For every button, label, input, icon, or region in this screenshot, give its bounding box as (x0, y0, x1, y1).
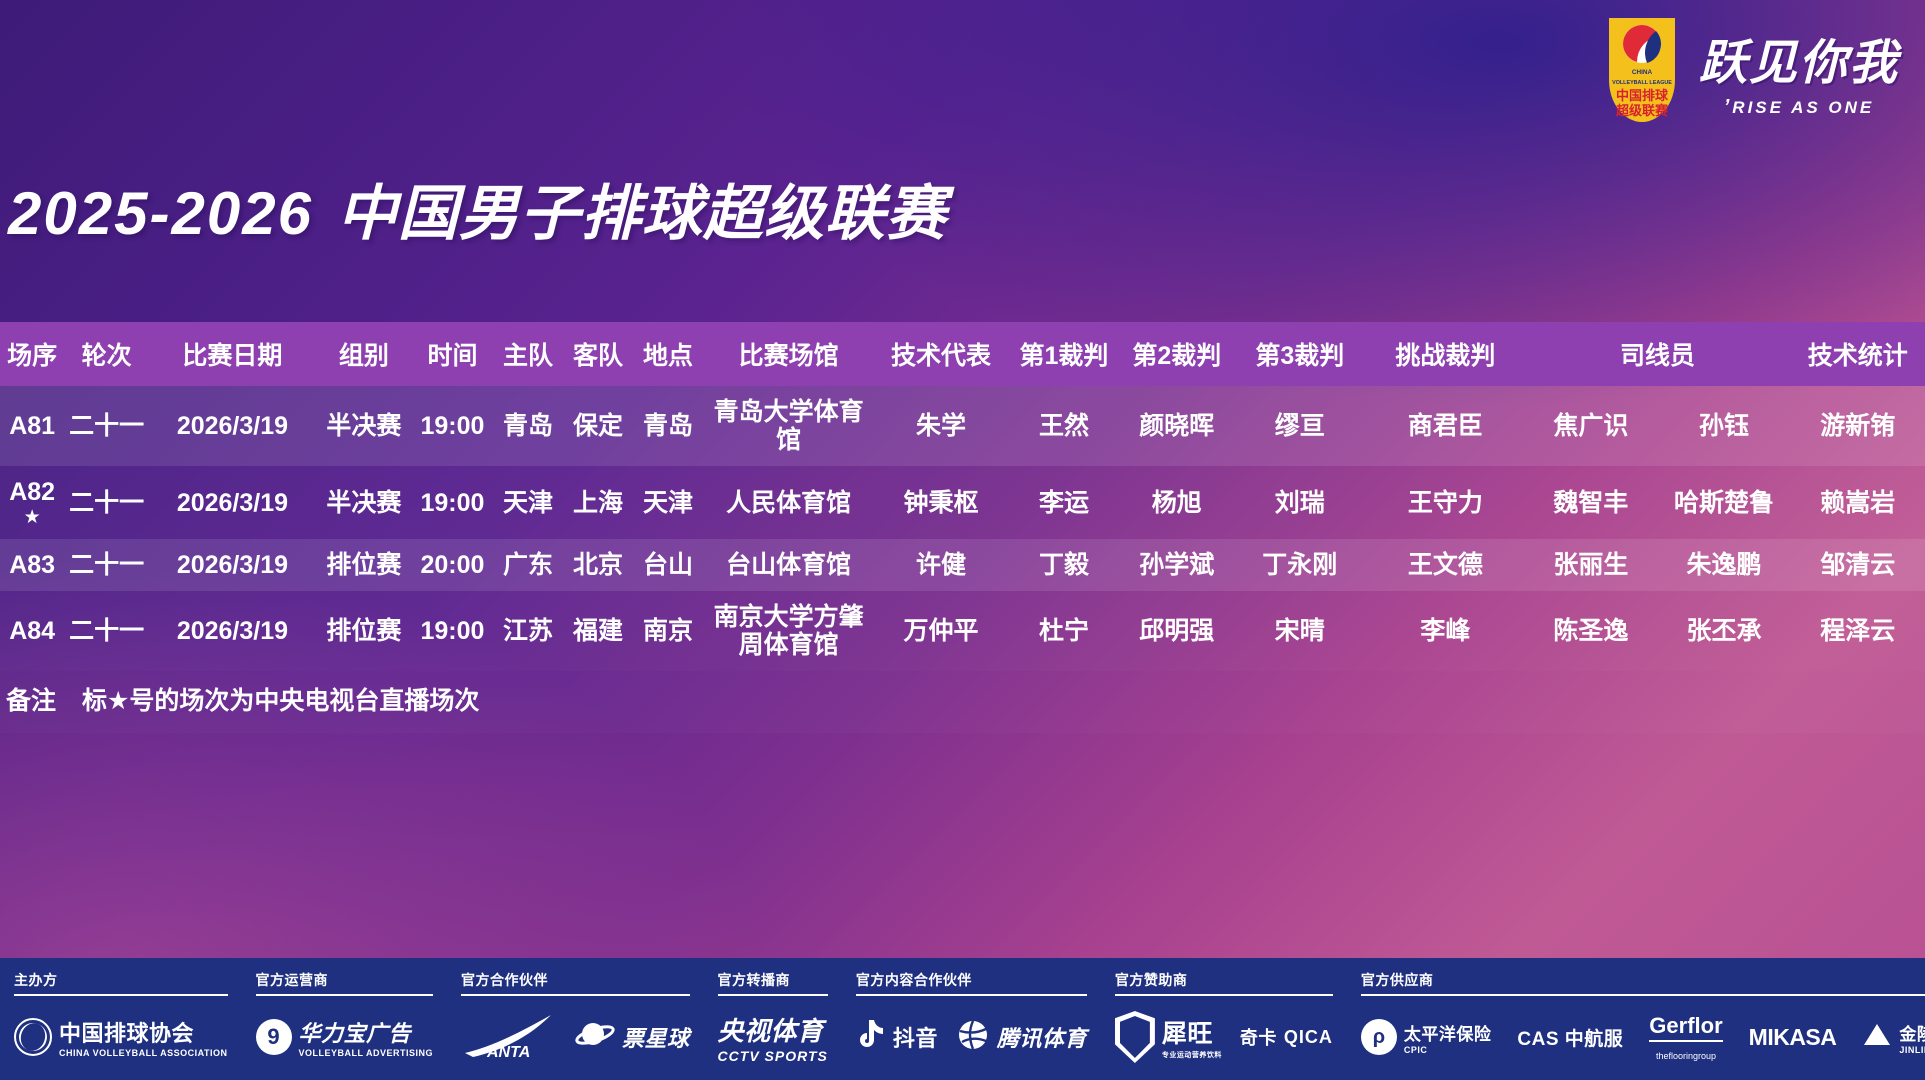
sponsor-group-title: 官方转播商 (718, 970, 828, 990)
cell-statistician: 游新铕 (1791, 386, 1925, 466)
svg-text:CHINA: CHINA (1632, 69, 1653, 76)
huiibao-icon: 9 (256, 1019, 292, 1055)
cell-location: 南京 (633, 591, 703, 671)
cell-line-judge-1: 焦广识 (1524, 386, 1657, 466)
cell-round: 二十一 (64, 591, 149, 671)
schedule-table-wrap: 场序 轮次 比赛日期 组别 时间 主队 客队 地点 比赛场馆 技术代表 第1裁判… (0, 322, 1925, 733)
header-challenge-referee: 挑战裁判 (1366, 322, 1524, 386)
cell-referee-2: 邱明强 (1120, 591, 1233, 671)
cell-challenge-referee: 王文德 (1366, 539, 1524, 591)
logo-sublabel: CCTV SPORTS (718, 1048, 828, 1064)
sponsor-group-content-partners: 官方内容合作伙伴 抖音 (856, 970, 1087, 1068)
sponsor-group-suppliers: 官方供应商 ρ 太平洋保险 CPIC CAS 中航服 Gerflor thefl… (1361, 970, 1925, 1068)
svg-text:超级联赛: 超级联赛 (1616, 103, 1669, 118)
cell-date: 2026/3/19 (149, 386, 316, 466)
mikasa-icon: MIKASA (1749, 1024, 1837, 1051)
divider (1115, 994, 1333, 996)
cell-location: 天津 (633, 466, 703, 539)
cell-away-team: 上海 (563, 466, 633, 539)
douyin-note-icon (856, 1018, 886, 1057)
cell-home-team: 天津 (493, 466, 563, 539)
logo-cctv-sports[interactable]: 央视体育 CCTV SPORTS (718, 1011, 828, 1064)
logo-label: 太平洋保险 (1404, 1020, 1492, 1045)
planet-icon (575, 1018, 615, 1057)
brand-slogan: 跃见你我 ’RISE AS ONE (1699, 40, 1899, 119)
cell-time: 19:00 (412, 591, 493, 671)
sponsor-group-title: 官方运营商 (256, 970, 434, 990)
header-round: 轮次 (64, 322, 149, 386)
logo-label: 金陵体育 (1899, 1020, 1925, 1045)
cell-line-judge-2: 哈斯楚鲁 (1657, 466, 1790, 539)
sponsor-group-title: 官方合作伙伴 (461, 970, 690, 990)
header-location: 地点 (633, 322, 703, 386)
sponsor-group-title: 官方赞助商 (1115, 970, 1333, 990)
logo-mikasa[interactable]: MIKASA (1749, 1024, 1837, 1051)
cell-challenge-referee: 王守力 (1366, 466, 1524, 539)
cell-line-judge-2: 张丕承 (1657, 591, 1790, 671)
logo-xiwang[interactable]: 犀旺 专业运动营养饮料 (1115, 1011, 1222, 1063)
cell-time: 19:00 (412, 386, 493, 466)
cell-time: 19:00 (412, 466, 493, 539)
sponsor-group-title: 主办方 (14, 970, 228, 990)
divider (718, 994, 828, 996)
cell-group: 排位赛 (316, 591, 412, 671)
cell-referee-2: 杨旭 (1120, 466, 1233, 539)
svg-text:VOLLEYBALL LEAGUE: VOLLEYBALL LEAGUE (1612, 80, 1672, 86)
schedule-table: 场序 轮次 比赛日期 组别 时间 主队 客队 地点 比赛场馆 技术代表 第1裁判… (0, 322, 1925, 733)
cell-tech-rep: 许健 (874, 539, 1007, 591)
tencent-ball-icon (956, 1018, 990, 1057)
logo-gerflor[interactable]: Gerflor theflooringroup (1649, 1013, 1722, 1061)
logo-sublabel: 专业运动营养饮料 (1162, 1050, 1222, 1060)
poster-canvas: CHINA VOLLEYBALL LEAGUE 中国排球 超级联赛 跃见你我 ’… (0, 0, 1925, 1080)
cell-group: 半决赛 (316, 386, 412, 466)
cell-line-judge-1: 张丽生 (1524, 539, 1657, 591)
logo-tencent-sports[interactable]: 腾讯体育 (956, 1018, 1087, 1057)
divider (461, 994, 690, 996)
gerflor-icon: Gerflor (1649, 1013, 1722, 1042)
header-home-team: 主队 (493, 322, 563, 386)
cell-venue: 青岛大学体育馆 (703, 386, 875, 466)
cell-venue: 南京大学方肇周体育馆 (703, 591, 875, 671)
sponsor-group-title: 官方供应商 (1361, 970, 1925, 990)
logo-cas[interactable]: CAS 中航服 (1517, 1024, 1623, 1051)
note-cell: 备注标★号的场次为中央电视台直播场次 (0, 671, 1925, 733)
cell-time: 20:00 (412, 539, 493, 591)
svg-text:ANTA: ANTA (486, 1044, 530, 1061)
logo-label: 央视体育 (718, 1011, 828, 1048)
cell-round: 二十一 (64, 386, 149, 466)
brand-logo-area: CHINA VOLLEYBALL LEAGUE 中国排球 超级联赛 跃见你我 ’… (1599, 14, 1899, 144)
page-title: 2025-2026中国男子排球超级联赛 (8, 165, 947, 252)
cell-tech-rep: 万仲平 (874, 591, 1007, 671)
cell-round: 二十一 (64, 466, 149, 539)
cell-match-no: A81 (0, 386, 64, 466)
cell-group: 排位赛 (316, 539, 412, 591)
table-row[interactable]: A82 ★ 二十一 2026/3/19 半决赛 19:00 天津 上海 天津 人… (0, 466, 1925, 539)
sponsor-group-organizer: 主办方 中国排球协会 CHINA VOLLEYBALL ASSOCIATION (14, 970, 228, 1068)
rhino-shield-icon (1115, 1011, 1155, 1063)
table-note-row: 备注标★号的场次为中央电视台直播场次 (0, 671, 1925, 733)
sponsor-group-title: 官方内容合作伙伴 (856, 970, 1087, 990)
header-match-no: 场序 (0, 322, 64, 386)
note-label: 备注 (6, 687, 56, 715)
header-line-judges: 司线员 (1524, 322, 1790, 386)
volleyball-icon (14, 1018, 52, 1056)
logo-cva[interactable]: 中国排球协会 CHINA VOLLEYBALL ASSOCIATION (14, 1016, 228, 1058)
cell-referee-3: 宋晴 (1233, 591, 1366, 671)
cell-round: 二十一 (64, 539, 149, 591)
logo-sublabel: theflooringroup (1656, 1051, 1716, 1061)
cell-line-judge-2: 孙钰 (1657, 386, 1790, 466)
anta-swoosh-icon: ANTA (461, 1013, 557, 1061)
cpic-icon: ρ (1361, 1019, 1397, 1055)
sponsor-group-partners: 官方合作伙伴 ANTA (461, 970, 690, 1068)
header-referee-1: 第1裁判 (1008, 322, 1121, 386)
cell-referee-3: 缪亘 (1233, 386, 1366, 466)
cell-date: 2026/3/19 (149, 466, 316, 539)
logo-label: 票星球 (622, 1021, 690, 1053)
divider (14, 994, 228, 996)
divider (256, 994, 434, 996)
sponsor-group-sponsors: 官方赞助商 犀旺 专业运动营养饮料 奇卡 QICA (1115, 970, 1333, 1068)
cell-referee-1: 杜宁 (1008, 591, 1121, 671)
cell-statistician: 程泽云 (1791, 591, 1925, 671)
logo-qica[interactable]: 奇卡 QICA (1240, 1024, 1333, 1050)
logo-label: 腾讯体育 (997, 1021, 1087, 1053)
sponsor-group-broadcaster: 官方转播商 央视体育 CCTV SPORTS (718, 970, 828, 1068)
cell-location: 青岛 (633, 386, 703, 466)
cell-referee-3: 丁永刚 (1233, 539, 1366, 591)
logo-label: 华力宝广告 (299, 1016, 434, 1048)
logo-piaoxingqiu[interactable]: 票星球 (575, 1018, 690, 1057)
qica-icon: QICA (1284, 1027, 1333, 1048)
header-date: 比赛日期 (149, 322, 316, 386)
sponsor-footer: 主办方 中国排球协会 CHINA VOLLEYBALL ASSOCIATION … (0, 958, 1925, 1080)
logo-sublabel: VOLLEYBALL ADVERTISING (299, 1048, 434, 1058)
cell-match-no: A82 ★ (0, 466, 64, 539)
cvl-league-badge-icon: CHINA VOLLEYBALL LEAGUE 中国排球 超级联赛 (1599, 14, 1685, 144)
cell-location: 台山 (633, 539, 703, 591)
tv-broadcast-star-icon: ★ (2, 508, 62, 527)
table-row[interactable]: A83 二十一 2026/3/19 排位赛 20:00 广东 北京 台山 台山体… (0, 539, 1925, 591)
logo-cpic[interactable]: ρ 太平洋保险 CPIC (1361, 1019, 1492, 1055)
logo-label: 中国排球协会 (59, 1016, 228, 1048)
cell-referee-2: 孙学斌 (1120, 539, 1233, 591)
cell-challenge-referee: 商君臣 (1366, 386, 1524, 466)
table-body: A81 二十一 2026/3/19 半决赛 19:00 青岛 保定 青岛 青岛大… (0, 386, 1925, 733)
header-referee-2: 第2裁判 (1120, 322, 1233, 386)
cell-home-team: 江苏 (493, 591, 563, 671)
sponsor-group-operator: 官方运营商 9 华力宝广告 VOLLEYBALL ADVERTISING (256, 970, 434, 1068)
cell-referee-2: 颜晓晖 (1120, 386, 1233, 466)
logo-sublabel: CPIC (1404, 1045, 1492, 1055)
cell-group: 半决赛 (316, 466, 412, 539)
cell-line-judge-1: 魏智丰 (1524, 466, 1657, 539)
logo-label: 奇卡 (1240, 1024, 1277, 1050)
cell-referee-1: 丁毅 (1008, 539, 1121, 591)
cell-referee-1: 李运 (1008, 466, 1121, 539)
cell-challenge-referee: 李峰 (1366, 591, 1524, 671)
slogan-english: ’RISE AS ONE (1724, 96, 1875, 119)
cctv-icon: 央视体育 CCTV SPORTS (718, 1011, 828, 1064)
cell-referee-3: 刘瑞 (1233, 466, 1366, 539)
header-venue: 比赛场馆 (703, 322, 875, 386)
header-away-team: 客队 (563, 322, 633, 386)
cell-statistician: 邹清云 (1791, 539, 1925, 591)
cell-venue: 人民体育馆 (703, 466, 875, 539)
divider (856, 994, 1087, 996)
logo-hualibao[interactable]: 9 华力宝广告 VOLLEYBALL ADVERTISING (256, 1016, 434, 1058)
logo-label: 犀旺 (1162, 1014, 1222, 1050)
cell-line-judge-1: 陈圣逸 (1524, 591, 1657, 671)
logo-douyin[interactable]: 抖音 (856, 1018, 938, 1057)
table-row[interactable]: A84 二十一 2026/3/19 排位赛 19:00 江苏 福建 南京 南京大… (0, 591, 1925, 671)
table-row[interactable]: A81 二十一 2026/3/19 半决赛 19:00 青岛 保定 青岛 青岛大… (0, 386, 1925, 466)
cell-date: 2026/3/19 (149, 539, 316, 591)
cell-statistician: 赖嵩岩 (1791, 466, 1925, 539)
logo-sublabel: CHINA VOLLEYBALL ASSOCIATION (59, 1048, 228, 1058)
slogan-chinese: 跃见你我 (1699, 40, 1899, 88)
header-time: 时间 (412, 322, 493, 386)
cell-match-no: A84 (0, 591, 64, 671)
logo-anta[interactable]: ANTA (461, 1013, 557, 1061)
jinling-icon (1862, 1022, 1892, 1053)
title-season: 2025-2026 (8, 180, 313, 247)
logo-jinling[interactable]: 金陵体育 JINLING SPORTS (1862, 1020, 1925, 1055)
header-group: 组别 (316, 322, 412, 386)
cell-match-no: A83 (0, 539, 64, 591)
cell-tech-rep: 朱学 (874, 386, 1007, 466)
cell-home-team: 广东 (493, 539, 563, 591)
cell-date: 2026/3/19 (149, 591, 316, 671)
cell-away-team: 福建 (563, 591, 633, 671)
logo-sublabel: JINLING SPORTS (1899, 1045, 1925, 1055)
cell-tech-rep: 钟秉枢 (874, 466, 1007, 539)
cell-venue: 台山体育馆 (703, 539, 875, 591)
svg-text:中国排球: 中国排球 (1616, 88, 1669, 103)
divider (1361, 994, 1925, 996)
header-statistician: 技术统计 (1791, 322, 1925, 386)
cell-away-team: 保定 (563, 386, 633, 466)
cas-icon: CAS 中航服 (1517, 1024, 1623, 1051)
cell-line-judge-2: 朱逸鹏 (1657, 539, 1790, 591)
note-text: 标★号的场次为中央电视台直播场次 (82, 687, 479, 715)
header-referee-3: 第3裁判 (1233, 322, 1366, 386)
logo-label: 抖音 (893, 1021, 938, 1053)
table-header-row: 场序 轮次 比赛日期 组别 时间 主队 客队 地点 比赛场馆 技术代表 第1裁判… (0, 322, 1925, 386)
header-tech-rep: 技术代表 (874, 322, 1007, 386)
cell-home-team: 青岛 (493, 386, 563, 466)
title-name: 中国男子排球超级联赛 (337, 180, 947, 247)
cell-away-team: 北京 (563, 539, 633, 591)
cell-referee-1: 王然 (1008, 386, 1121, 466)
